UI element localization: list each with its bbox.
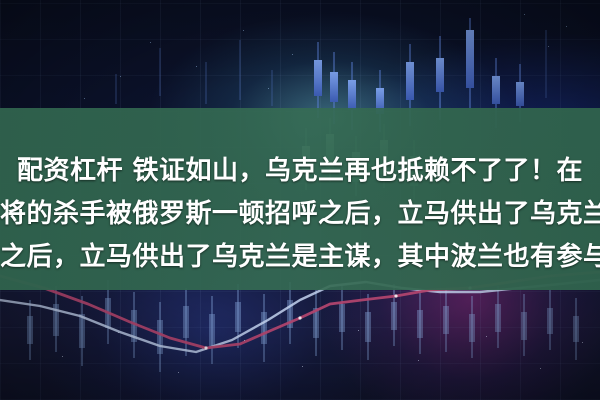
headline-line-2: 将的杀手被俄罗斯一顿招呼之后，立马供出了乌克兰是 <box>0 193 600 230</box>
headline-line-1: 配资杠杆 铁证如山，乌克兰再也抵赖不了了！在 <box>0 150 600 187</box>
headline-line-3: 之后，立马供出了乌克兰是主谋，其中波兰也有参与 <box>0 236 600 273</box>
screenshot-canvas: 配资杠杆 铁证如山，乌克兰再也抵赖不了了！在 将的杀手被俄罗斯一顿招呼之后，立马… <box>0 0 600 400</box>
